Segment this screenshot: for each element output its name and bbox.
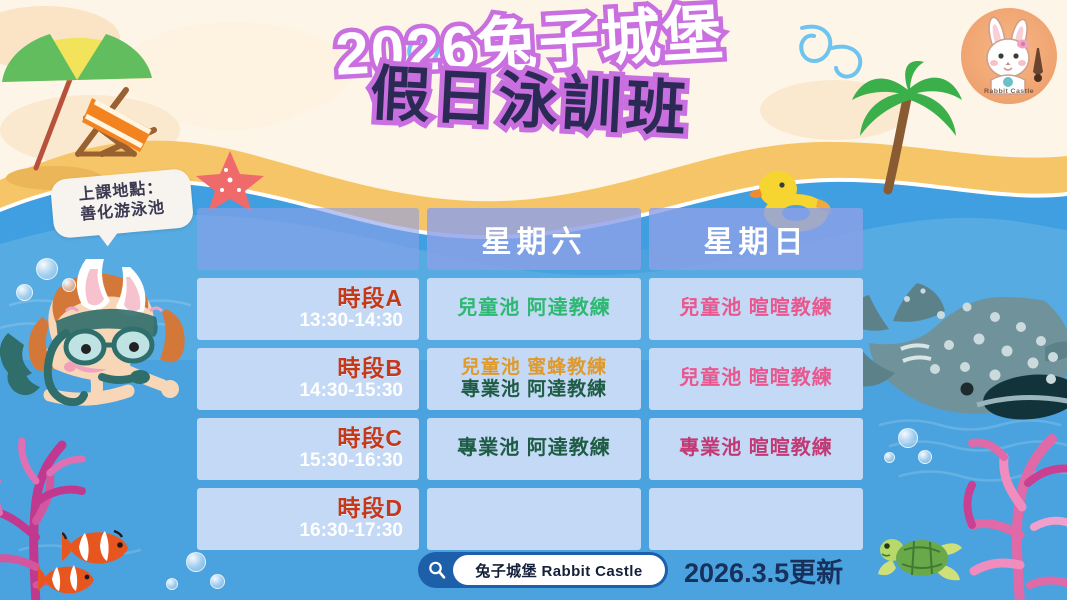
table-row: 時段A 13:30-14:30 兒童池 阿達教練 兒童池 暄暄教練 — [197, 278, 864, 340]
sea-turtle — [878, 530, 962, 586]
poster-canvas: Rabbit Castle — [0, 0, 1067, 600]
slot-time: 13:30-14:30 — [299, 310, 403, 332]
table-corner-cell — [197, 208, 419, 270]
logo-caption: Rabbit Castle — [961, 88, 1057, 94]
search-bar[interactable]: 兔子城堡 Rabbit Castle — [418, 552, 668, 588]
class-entry: 兒童池 蜜蜂教練 — [461, 357, 607, 379]
bubble — [36, 258, 58, 280]
class-cell-sunday[interactable]: 專業池 暄暄教練 — [649, 418, 863, 480]
slot-name: 時段B — [337, 356, 403, 381]
bubble — [210, 574, 225, 589]
slot-name: 時段A — [337, 286, 403, 311]
bubble — [16, 284, 33, 301]
time-slot-cell: 時段A 13:30-14:30 — [197, 278, 419, 340]
table-row: 時段D 16:30-17:30 — [197, 488, 864, 550]
footer-bar: 兔子城堡 Rabbit Castle 2026.3.5更新 — [418, 550, 868, 590]
class-entry: 兒童池 暄暄教練 — [679, 367, 833, 391]
rabbit-castle-logo[interactable]: Rabbit Castle — [961, 8, 1057, 104]
table-header-row: 星期六 星期日 — [197, 208, 864, 270]
schedule-table: 星期六 星期日 時段A 13:30-14:30 兒童池 阿達教練 兒童池 暄暄教… — [197, 208, 864, 558]
day-label: 星期六 — [482, 217, 587, 261]
location-speech-bubble: 上課地點： 善化游泳池 — [50, 168, 195, 239]
class-cell-saturday[interactable]: 兒童池 阿達教練 — [427, 278, 641, 340]
poster-title: 2026兔子城堡 假日泳訓班 — [250, 14, 810, 164]
table-row: 時段C 15:30-16:30 專業池 阿達教練 專業池 暄暄教練 — [197, 418, 864, 480]
bubble — [918, 450, 932, 464]
class-entry: 兒童池 阿達教練 — [457, 297, 611, 321]
slot-name: 時段D — [337, 496, 403, 521]
bubble — [166, 578, 178, 590]
title-line-2: 假日泳訓班 — [249, 57, 811, 146]
bubble — [884, 452, 895, 463]
search-icon — [421, 554, 453, 586]
time-slot-cell: 時段C 15:30-16:30 — [197, 418, 419, 480]
class-entry: 專業池 阿達教練 — [457, 437, 611, 461]
slot-name: 時段C — [337, 426, 403, 451]
class-cell-saturday[interactable]: 兒童池 蜜蜂教練 專業池 阿達教練 — [427, 348, 641, 410]
clownfish-2 — [38, 560, 96, 596]
bubble — [62, 278, 76, 292]
slot-time: 16:30-17:30 — [299, 520, 403, 542]
class-cell-sunday[interactable]: 兒童池 暄暄教練 — [649, 348, 863, 410]
column-header-saturday: 星期六 — [427, 208, 641, 270]
class-entry: 兒童池 暄暄教練 — [679, 297, 833, 321]
last-updated-label: 2026.3.5更新 — [684, 551, 843, 590]
coral-right — [948, 415, 1067, 600]
slot-time: 14:30-15:30 — [299, 380, 403, 402]
class-cell-sunday[interactable]: 兒童池 暄暄教練 — [649, 278, 863, 340]
time-slot-cell: 時段B 14:30-15:30 — [197, 348, 419, 410]
class-entry: 專業池 暄暄教練 — [679, 437, 833, 461]
class-cell-saturday[interactable] — [427, 488, 641, 550]
slot-time: 15:30-16:30 — [299, 450, 403, 472]
class-cell-saturday[interactable]: 專業池 阿達教練 — [427, 418, 641, 480]
bubble — [898, 428, 918, 448]
class-entry: 專業池 阿達教練 — [461, 379, 607, 401]
class-cell-sunday[interactable] — [649, 488, 863, 550]
column-header-sunday: 星期日 — [649, 208, 863, 270]
time-slot-cell: 時段D 16:30-17:30 — [197, 488, 419, 550]
table-row: 時段B 14:30-15:30 兒童池 蜜蜂教練 專業池 阿達教練 兒童池 暄暄… — [197, 348, 864, 410]
search-input[interactable]: 兔子城堡 Rabbit Castle — [453, 555, 665, 585]
day-label: 星期日 — [704, 217, 809, 261]
deck-chair — [62, 72, 192, 162]
